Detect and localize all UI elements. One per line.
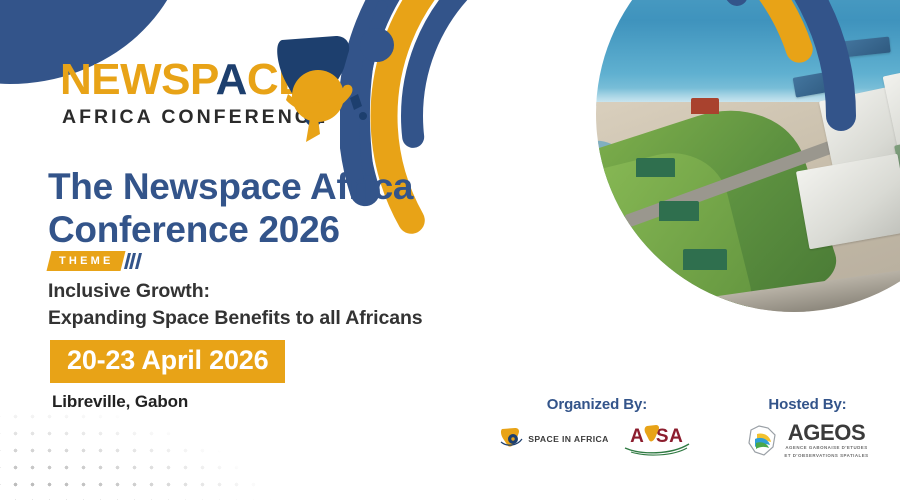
ageos-logo: AGEOS AGENCE GABONAISE D'ETUDES ET D'OBS… [746,422,868,459]
conference-banner: NEWSPACE AFRICA CONFERENCE The Newspace … [0,0,900,500]
host-logos: AGEOS AGENCE GABONAISE D'ETUDES ET D'OBS… [720,422,895,459]
space-in-africa-mark [499,426,525,452]
logo-word-part-2: A [216,55,247,104]
newspace-africa-logo: NEWSPACE AFRICA CONFERENCE [60,58,360,150]
madagascar-shape [350,94,362,110]
gabon-map-icon [746,423,780,459]
ageos-text-block: AGEOS AGENCE GABONAISE D'ETUDES ET D'OBS… [784,422,868,459]
credits-section: Organized By: SPACE IN AFRICA A SA [470,396,890,496]
page-title: The Newspace Africa Conference 2026 [48,166,488,252]
ageos-subtitle-2: ET D'OBSERVATIONS SPATIALES [784,453,868,460]
sia-planet-core [512,437,515,440]
space-in-africa-logo: SPACE IN AFRICA [499,426,608,452]
theme-line-1: Inclusive Growth: [48,278,498,305]
organized-by-title: Organized By: [482,396,712,413]
logo-wordmark: NEWSPACE [60,58,307,102]
theme-statement: Inclusive Growth: Expanding Space Benefi… [48,278,498,332]
theme-slashes-icon [126,253,143,269]
afsa-logo: A SA [619,422,695,456]
headline-line-1: The Newspace Africa [48,166,488,209]
map-dot [359,112,367,120]
main-content: NEWSPACE AFRICA CONFERENCE The Newspace … [48,0,518,500]
afsa-mark [619,422,695,456]
organizer-logos: SPACE IN AFRICA A SA [482,422,712,456]
ageos-label: AGEOS [784,422,868,444]
afsa-africa-shape [644,425,658,441]
ageos-subtitle-1: AGENCE GABONAISE D'ETUDES [784,445,868,452]
hosted-by-title: Hosted By: [720,396,895,413]
theme-line-2: Expanding Space Benefits to all Africans [48,305,498,332]
theme-badge-label: THEME [59,255,114,267]
theme-badge-row: THEME [49,251,142,271]
space-in-africa-label: SPACE IN AFRICA [528,434,608,444]
logo-word-part-1: NEWSP [60,55,216,104]
event-dates-badge: 20-23 April 2026 [50,340,285,383]
headline-line-2: Conference 2026 [48,209,488,252]
organized-by-block: Organized By: SPACE IN AFRICA A SA [482,396,712,456]
hosted-by-block: Hosted By: AGEOS AGENCE GABONAISE D'ETUD… [720,396,895,459]
event-venue: Libreville, Gabon [52,392,188,412]
theme-badge: THEME [47,251,125,271]
africa-map-satellite-mark [274,34,370,146]
